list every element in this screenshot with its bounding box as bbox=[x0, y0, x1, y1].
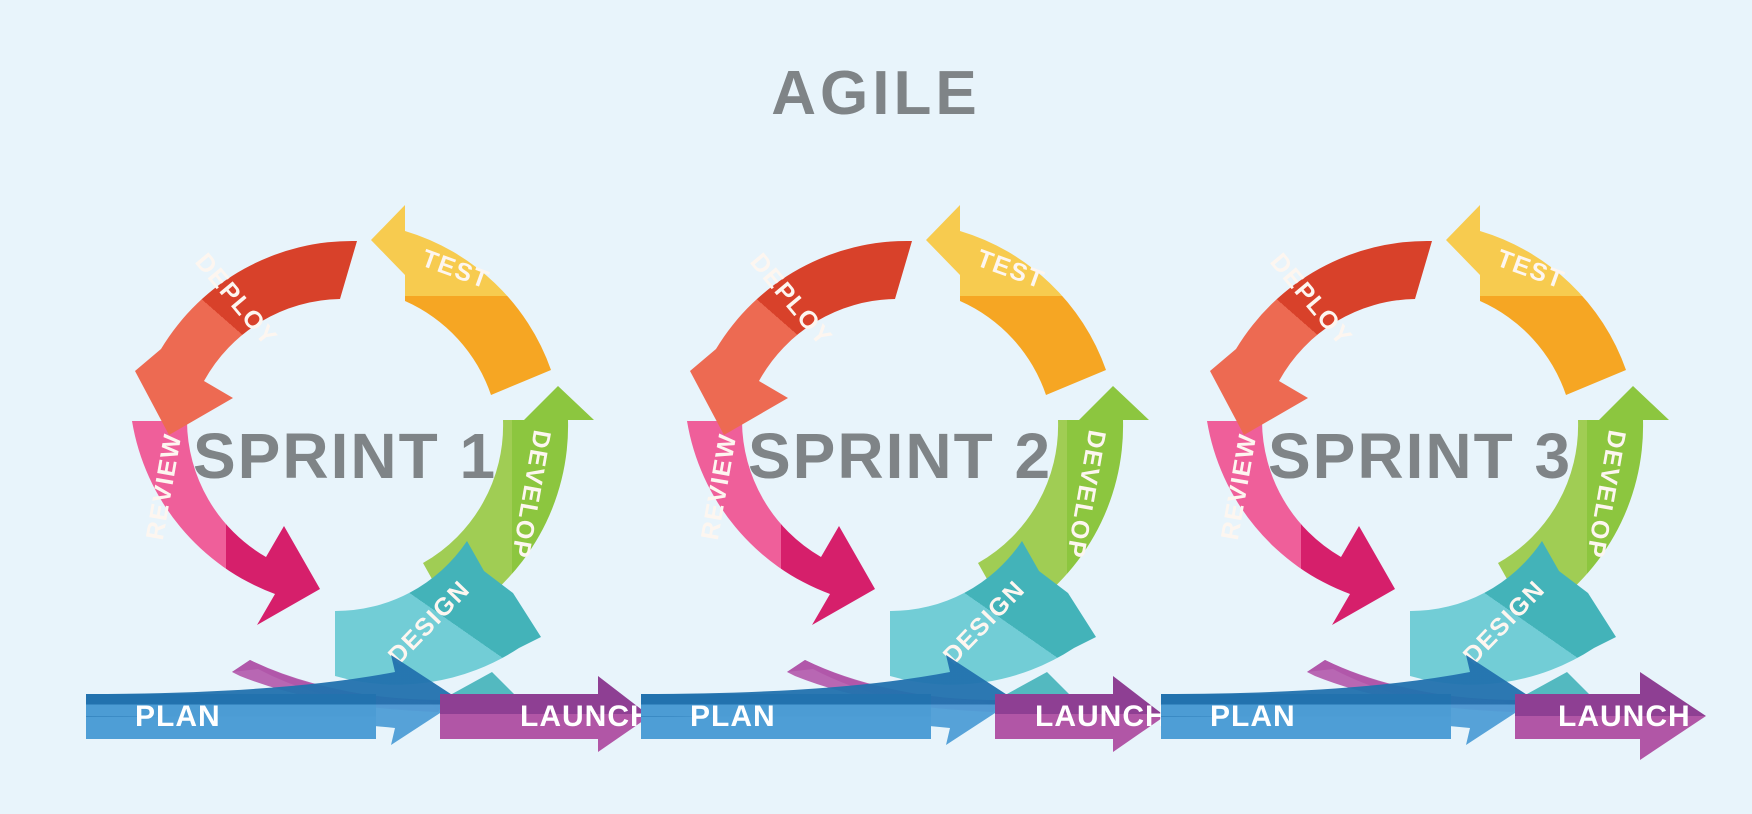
sprint-2-plan-label: PLAN bbox=[690, 700, 776, 733]
sprint-3-launch-label: LAUNCH bbox=[1558, 700, 1691, 733]
sprint-3-label: SPRINT 3 bbox=[1268, 420, 1572, 492]
sprint-1-label: SPRINT 1 bbox=[193, 420, 497, 492]
sprint-3-plan-label: PLAN bbox=[1210, 700, 1296, 733]
page-title: AGILE bbox=[0, 58, 1752, 129]
sprint-group-2[interactable]: SPRINT 2 TEST DEVELOP DESIGN REVIEW DEPL… bbox=[687, 205, 1149, 685]
sprint-group-1[interactable]: SPRINT 1 TEST DEVELOP DESIGN REVIEW DEPL… bbox=[132, 205, 594, 685]
sprint-group-3[interactable]: SPRINT 3 TEST DEVELOP DESIGN REVIEW DEPL… bbox=[1207, 205, 1669, 685]
sprint-1-launch-label: LAUNCH bbox=[520, 700, 653, 733]
sprint-1-plan-label: PLAN bbox=[135, 700, 221, 733]
sprint-2-label: SPRINT 2 bbox=[748, 420, 1052, 492]
sprint-2-launch-label: LAUNCH bbox=[1035, 700, 1168, 733]
agile-diagram-canvas: AGILE bbox=[0, 0, 1752, 814]
